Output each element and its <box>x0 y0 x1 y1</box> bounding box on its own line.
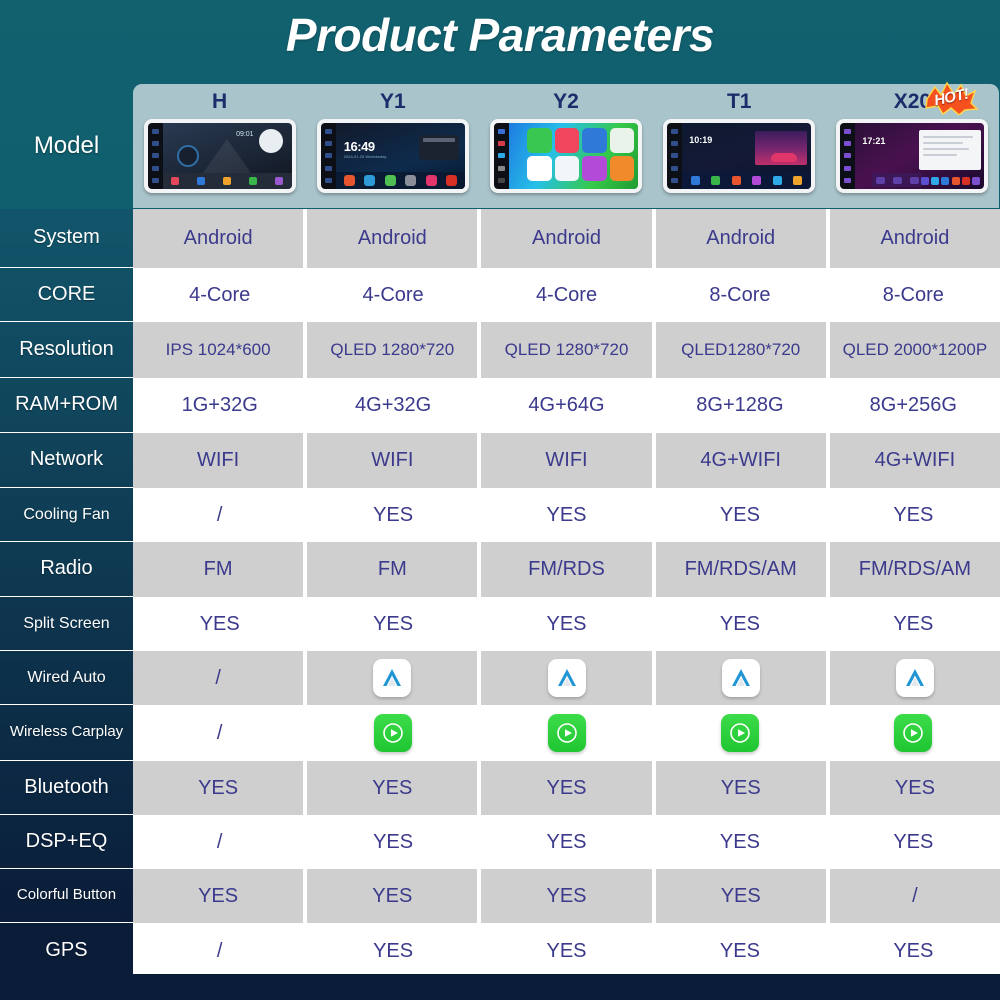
row-cells: YESYESYESYESYES <box>133 597 1000 651</box>
table-cell <box>306 705 479 761</box>
model-name-y2: Y2 <box>553 91 579 112</box>
table-cell: QLED 1280*720 <box>307 322 477 378</box>
table-row: RAM+ROM1G+32G4G+32G4G+64G8G+128G8G+256G <box>0 378 1000 433</box>
cell-value: YES <box>373 831 413 853</box>
cell-value: YES <box>721 885 761 907</box>
cell-value: YES <box>895 777 935 799</box>
table-row: Wired Auto/ <box>0 651 1000 705</box>
model-cell-y1[interactable]: Y1 16:49 2024-01-25 Wednesday <box>306 84 479 208</box>
table-cell: YES <box>307 761 477 815</box>
cell-value: 4-Core <box>536 284 597 306</box>
row-label-text: GPS <box>45 940 87 962</box>
page-title: Product Parameters <box>0 8 1000 62</box>
model-cell-h[interactable]: H 09:01 <box>133 84 306 208</box>
row-cells: /YESYESYESYES <box>133 488 1000 542</box>
table-cell <box>653 705 826 761</box>
carplay-icon <box>374 714 412 752</box>
cell-value: 4G+WIFI <box>700 449 781 471</box>
cell-value: YES <box>893 940 933 962</box>
table-row: BluetoothYESYESYESYESYES <box>0 761 1000 815</box>
table-cell: YES <box>306 488 479 542</box>
row-label-model: Model <box>0 84 133 208</box>
cell-value: YES <box>893 613 933 635</box>
cell-value: YES <box>547 504 587 526</box>
table-cell: 4-Core <box>133 268 306 322</box>
table-cell: YES <box>307 869 477 923</box>
row-cells: IPS 1024*600QLED 1280*720QLED 1280*720QL… <box>133 322 1000 378</box>
row-label-text: Split Screen <box>23 615 109 632</box>
table-row: CORE4-Core4-Core4-Core8-Core8-Core <box>0 268 1000 322</box>
table-cell: 4G+32G <box>306 378 479 433</box>
table-cell <box>481 651 651 705</box>
row-label-gps: GPS <box>0 923 133 979</box>
table-cell: WIFI <box>481 433 651 488</box>
row-label-bluetooth: Bluetooth <box>0 761 133 815</box>
row-label-text: RAM+ROM <box>15 394 118 416</box>
table-cell: FM/RDS/AM <box>656 542 826 597</box>
android-auto-icon <box>896 659 934 697</box>
table-cell: YES <box>133 597 306 651</box>
screen-sidebar-icon <box>321 123 336 189</box>
table-cell: YES <box>827 815 1000 869</box>
table-cell: Android <box>307 209 477 268</box>
carplay-icon <box>894 714 932 752</box>
table-cell: YES <box>306 923 479 979</box>
cell-value: YES <box>720 613 760 635</box>
table-cell: IPS 1024*600 <box>133 322 303 378</box>
table-cell: YES <box>481 869 651 923</box>
cell-value: 4-Core <box>189 284 250 306</box>
row-cells: AndroidAndroidAndroidAndroidAndroid <box>133 209 1000 268</box>
cell-value: Android <box>880 227 949 249</box>
row-cells: FMFMFM/RDSFM/RDS/AMFM/RDS/AM <box>133 542 1000 597</box>
row-label-text: System <box>33 227 100 249</box>
carplay-icon <box>721 714 759 752</box>
row-cells: / <box>133 651 1000 705</box>
table-cell: 8-Core <box>653 268 826 322</box>
cell-value: / <box>217 504 223 526</box>
bottom-strip <box>0 974 1000 1000</box>
table-row: SystemAndroidAndroidAndroidAndroidAndroi… <box>0 209 1000 268</box>
screen-time-x20: 17:21 <box>862 136 885 146</box>
row-label-network: Network <box>0 433 133 488</box>
table-cell: FM/RDS/AM <box>830 542 1000 597</box>
table-row: GPS/YESYESYESYES <box>0 923 1000 979</box>
cell-value: YES <box>721 777 761 799</box>
cell-value: WIFI <box>545 449 587 471</box>
row-label-text: Bluetooth <box>24 777 109 799</box>
model-name-h: H <box>212 91 227 112</box>
table-cell: QLED1280*720 <box>656 322 826 378</box>
table-cell: YES <box>133 869 303 923</box>
cell-value: 4G+WIFI <box>875 449 956 471</box>
model-panel: H 09:01 <box>133 84 999 208</box>
row-label-resolution: Resolution <box>0 322 133 378</box>
table-cell: YES <box>480 923 653 979</box>
cell-value: FM/RDS <box>528 558 605 580</box>
table-cell: 1G+32G <box>133 378 306 433</box>
row-label-system: System <box>0 209 133 268</box>
row-cells: / <box>133 705 1000 761</box>
table-cell: Android <box>133 209 303 268</box>
table-cell: QLED 1280*720 <box>481 322 651 378</box>
cell-value: 8G+256G <box>870 394 957 416</box>
row-cells: YESYESYESYESYES <box>133 761 1000 815</box>
table-cell: 4G+64G <box>480 378 653 433</box>
cell-value: / <box>217 940 223 962</box>
row-label-text: CORE <box>38 284 96 306</box>
cell-value: YES <box>546 777 586 799</box>
table-cell: YES <box>656 761 826 815</box>
head-unit-h: 09:01 <box>144 119 296 193</box>
head-unit-x20: 17:21 <box>836 119 988 193</box>
carplay-icon <box>548 714 586 752</box>
model-name-x20: X20 HOT! <box>894 91 931 112</box>
cell-value: WIFI <box>197 449 239 471</box>
cell-value: YES <box>546 885 586 907</box>
table-cell: FM <box>307 542 477 597</box>
table-row: ResolutionIPS 1024*600QLED 1280*720QLED … <box>0 322 1000 378</box>
model-cell-x20[interactable]: X20 HOT! 17:21 <box>826 84 999 208</box>
table-cell: YES <box>481 761 651 815</box>
table-cell: YES <box>653 815 826 869</box>
spec-table: SystemAndroidAndroidAndroidAndroidAndroi… <box>0 209 1000 979</box>
table-row: Split ScreenYESYESYESYESYES <box>0 597 1000 651</box>
table-row: Wireless Carplay/ <box>0 705 1000 761</box>
table-cell: 4G+WIFI <box>830 433 1000 488</box>
row-label-text: Wireless Carplay <box>10 724 123 740</box>
row-cells: /YESYESYESYES <box>133 815 1000 869</box>
cell-value: 8-Core <box>883 284 944 306</box>
row-label-colorful-button: Colorful Button <box>0 869 133 923</box>
android-auto-icon <box>722 659 760 697</box>
cell-value: YES <box>893 504 933 526</box>
cell-value: YES <box>547 613 587 635</box>
row-label-text: Network <box>30 449 103 471</box>
table-cell: / <box>133 705 306 761</box>
row-cells: WIFIWIFIWIFI4G+WIFI4G+WIFI <box>133 433 1000 488</box>
table-row: RadioFMFMFM/RDSFM/RDS/AMFM/RDS/AM <box>0 542 1000 597</box>
cell-value: 8G+128G <box>696 394 783 416</box>
table-row: Cooling Fan/YESYESYESYES <box>0 488 1000 542</box>
table-cell: YES <box>480 488 653 542</box>
table-cell: 4-Core <box>480 268 653 322</box>
row-label-text: Resolution <box>19 339 114 361</box>
table-cell: WIFI <box>307 433 477 488</box>
cell-value: YES <box>373 504 413 526</box>
row-label-wired-auto: Wired Auto <box>0 651 133 705</box>
table-cell: YES <box>827 923 1000 979</box>
table-cell <box>830 651 1000 705</box>
cell-value: QLED 1280*720 <box>505 340 629 359</box>
cell-value: YES <box>720 940 760 962</box>
table-cell: Android <box>656 209 826 268</box>
table-cell: YES <box>480 815 653 869</box>
table-cell: YES <box>480 597 653 651</box>
cell-value: YES <box>373 613 413 635</box>
cell-value: YES <box>547 831 587 853</box>
row-label-text: DSP+EQ <box>26 831 108 853</box>
table-cell <box>307 651 477 705</box>
cell-value: QLED1280*720 <box>681 340 800 359</box>
screen-date-y1: 2024-01-25 Wednesday <box>344 154 387 159</box>
row-label-ram-rom: RAM+ROM <box>0 378 133 433</box>
table-cell: YES <box>656 869 826 923</box>
table-cell: YES <box>827 597 1000 651</box>
row-label-text: Cooling Fan <box>23 506 109 523</box>
cell-value: Android <box>532 227 601 249</box>
cell-value: QLED 1280*720 <box>330 340 454 359</box>
row-cells: 4-Core4-Core4-Core8-Core8-Core <box>133 268 1000 322</box>
cell-value: 4G+64G <box>528 394 604 416</box>
cell-value: / <box>217 831 223 853</box>
table-cell: YES <box>653 597 826 651</box>
table-cell <box>656 651 826 705</box>
cell-value: YES <box>373 940 413 962</box>
row-label-split-screen: Split Screen <box>0 597 133 651</box>
row-label-text: Radio <box>40 558 92 580</box>
model-name-t1: T1 <box>727 91 752 112</box>
screen-sidebar-icon <box>494 123 509 189</box>
table-cell <box>480 705 653 761</box>
screen-time-h: 09:01 <box>236 131 254 138</box>
cell-value: YES <box>372 777 412 799</box>
row-label-wireless-carplay: Wireless Carplay <box>0 705 133 761</box>
cell-value: 4-Core <box>363 284 424 306</box>
cell-value: QLED 2000*1200P <box>843 340 988 359</box>
table-row: Colorful ButtonYESYESYESYES/ <box>0 869 1000 923</box>
screen-sidebar-icon <box>148 123 163 189</box>
cell-value: Android <box>358 227 427 249</box>
table-row: NetworkWIFIWIFIWIFI4G+WIFI4G+WIFI <box>0 433 1000 488</box>
row-label-core: CORE <box>0 268 133 322</box>
table-cell: YES <box>306 597 479 651</box>
row-label-model-text: Model <box>34 132 99 160</box>
table-cell: / <box>133 651 303 705</box>
android-auto-icon <box>548 659 586 697</box>
table-cell: 8G+256G <box>827 378 1000 433</box>
cell-value: YES <box>720 504 760 526</box>
table-cell: YES <box>653 488 826 542</box>
cell-value: 4G+32G <box>355 394 431 416</box>
table-cell: YES <box>827 488 1000 542</box>
cell-value: YES <box>198 885 238 907</box>
cell-value: YES <box>200 613 240 635</box>
screen-time-y1: 16:49 <box>344 139 375 154</box>
screen-time-t1: 10:19 <box>689 135 712 145</box>
row-label-radio: Radio <box>0 542 133 597</box>
row-label-text: Colorful Button <box>17 887 116 903</box>
table-cell: Android <box>481 209 651 268</box>
table-cell: FM/RDS <box>481 542 651 597</box>
cell-value: YES <box>893 831 933 853</box>
cell-value: YES <box>547 940 587 962</box>
model-cell-y2[interactable]: Y2 <box>479 84 652 208</box>
head-unit-y2 <box>490 119 642 193</box>
table-cell: YES <box>830 761 1000 815</box>
table-cell: QLED 2000*1200P <box>830 322 1000 378</box>
model-row: H 09:01 <box>133 84 999 208</box>
row-label-cooling-fan: Cooling Fan <box>0 488 133 542</box>
table-cell: FM <box>133 542 303 597</box>
row-cells: YESYESYESYES/ <box>133 869 1000 923</box>
cell-value: WIFI <box>371 449 413 471</box>
row-cells: 1G+32G4G+32G4G+64G8G+128G8G+256G <box>133 378 1000 433</box>
table-cell: WIFI <box>133 433 303 488</box>
cell-value: FM/RDS/AM <box>685 558 797 580</box>
android-auto-icon <box>373 659 411 697</box>
product-parameters-page: Product Parameters H 09:01 <box>0 0 1000 1000</box>
model-cell-t1[interactable]: T1 10:19 <box>653 84 826 208</box>
head-unit-t1: 10:19 <box>663 119 815 193</box>
table-cell: Android <box>830 209 1000 268</box>
cell-value: Android <box>706 227 775 249</box>
cell-value: / <box>217 722 223 744</box>
row-label-text: Wired Auto <box>27 669 105 686</box>
cell-value: FM <box>204 558 233 580</box>
table-cell <box>827 705 1000 761</box>
table-cell: / <box>133 488 306 542</box>
cell-value: 1G+32G <box>182 394 258 416</box>
table-cell: YES <box>306 815 479 869</box>
table-cell: 8G+128G <box>653 378 826 433</box>
cell-value: YES <box>720 831 760 853</box>
cell-value: / <box>215 667 221 689</box>
table-cell: YES <box>133 761 303 815</box>
head-unit-y1: 16:49 2024-01-25 Wednesday <box>317 119 469 193</box>
cell-value: / <box>912 885 918 907</box>
table-cell: 4-Core <box>306 268 479 322</box>
table-row: DSP+EQ/YESYESYESYES <box>0 815 1000 869</box>
screen-sidebar-icon <box>667 123 682 189</box>
row-cells: /YESYESYESYES <box>133 923 1000 979</box>
cell-value: YES <box>372 885 412 907</box>
cell-value: IPS 1024*600 <box>166 340 271 359</box>
hot-badge: HOT! <box>923 79 979 115</box>
carplay-app-grid <box>527 128 634 181</box>
cell-value: FM <box>378 558 407 580</box>
cell-value: Android <box>184 227 253 249</box>
table-cell: / <box>133 923 306 979</box>
table-cell: / <box>830 869 1000 923</box>
table-cell: YES <box>653 923 826 979</box>
model-name-y1: Y1 <box>380 91 406 112</box>
cell-value: FM/RDS/AM <box>859 558 971 580</box>
table-cell: 4G+WIFI <box>656 433 826 488</box>
cell-value: YES <box>198 777 238 799</box>
row-label-dsp-eq: DSP+EQ <box>0 815 133 869</box>
cell-value: 8-Core <box>709 284 770 306</box>
table-cell: 8-Core <box>827 268 1000 322</box>
table-cell: / <box>133 815 306 869</box>
screen-sidebar-icon <box>840 123 855 189</box>
